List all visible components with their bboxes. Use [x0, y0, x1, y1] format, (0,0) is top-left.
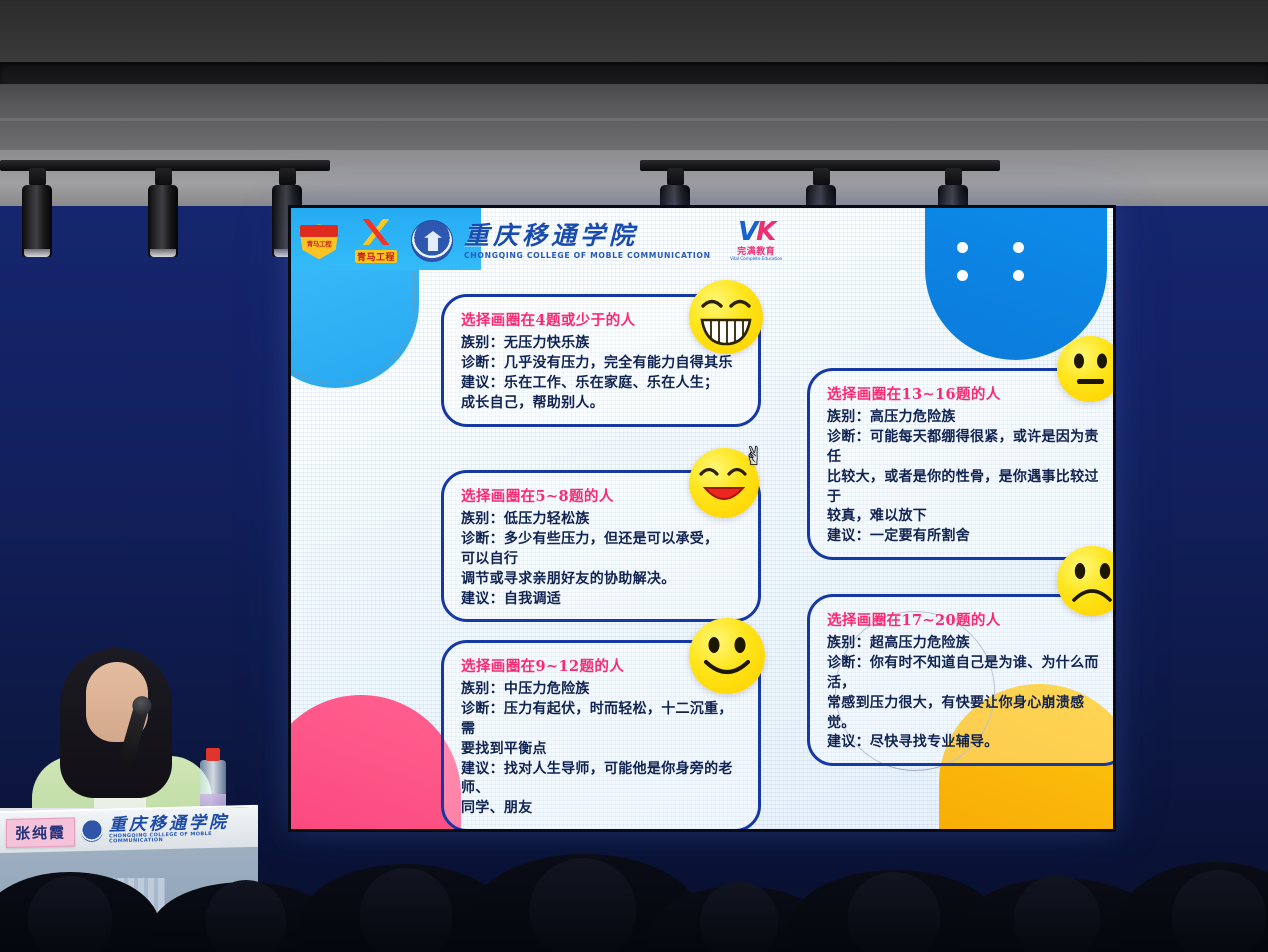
slide-cards: 选择画圈在4题或少于的人 族别：无压力快乐族 诊断：几乎没有压力，完全有能力自得…	[291, 208, 1113, 829]
national-emblem-icon: 青马工程	[297, 221, 341, 261]
card-line: 要找到平衡点	[461, 740, 742, 760]
card-line: 建议：乐在工作、乐在家庭、乐在人生；	[461, 374, 742, 394]
smile-face-icon	[689, 618, 765, 694]
neutral-face-icon	[1057, 336, 1113, 402]
card-line: 建议：尽快寻找专业辅导。	[827, 733, 1110, 753]
card-line: 诊断：多少有些压力，但还是可以承受，	[461, 530, 742, 550]
card-line: 族别：高压力危险族	[827, 408, 1110, 428]
card-line: 诊断：压力有起伏，时而轻松，十二沉重，需	[461, 700, 742, 740]
card-line: 诊断：几乎没有压力，完全有能力自得其乐	[461, 354, 742, 374]
sad-face-icon	[1057, 546, 1113, 616]
wall-upper-band	[0, 150, 1268, 206]
wanman-education-logo: VK 完满教育 Vital Complete Education	[730, 220, 782, 263]
card-line: 族别：超高压力危险族	[827, 634, 1110, 654]
card-line: 较真，难以放下	[827, 507, 1110, 527]
emblem-label: 青马工程	[297, 238, 341, 248]
school-wordmark: 重庆移通学院 CHONGQING COLLEGE OF MOBLE COMMUN…	[464, 223, 721, 260]
card-line: 比较大，或者是你的性骨，是你遇事比较过于	[827, 468, 1110, 508]
school-name-cn: 重庆移通学院	[464, 223, 721, 248]
card-line: 调节或寻求亲朋好友的协助解决。	[461, 570, 742, 590]
lecture-hall-scene: 青马工程 青马工程 重庆移通学院 CHONGQING COLLEGE OF MO…	[0, 0, 1268, 952]
college-seal-icon	[411, 220, 453, 262]
vk-monogram-icon: VK	[730, 220, 782, 245]
card-line: 诊断：你有时不知道自己是为谁、为什么而活，	[827, 654, 1110, 694]
ceiling-slot	[0, 62, 1268, 84]
card-line: 诊断：可能每天都绷得很紧，或许是因为责任	[827, 428, 1110, 468]
audience-silhouettes	[0, 792, 1268, 952]
grin-face-icon	[689, 280, 763, 354]
qingma-mark-icon	[359, 219, 393, 245]
wanman-label-cn: 完满教育	[730, 244, 782, 257]
card-line: 成长自己，帮助别人。	[461, 394, 742, 414]
qingma-project-logo: 青马工程	[350, 219, 402, 264]
school-name-en: CHONGQING COLLEGE OF MOBLE COMMUNICATION	[464, 251, 711, 260]
ceiling-seam	[0, 118, 1268, 121]
qingma-label: 青马工程	[355, 250, 397, 263]
result-card-17-to-20: 选择画圈在17~20题的人 族别：超高压力危险族 诊断：你有时不知道自己是为谁、…	[807, 594, 1113, 766]
projection-screen: 青马工程 青马工程 重庆移通学院 CHONGQING COLLEGE OF MO…	[291, 208, 1113, 829]
wanman-label-en: Vital Complete Education	[730, 257, 782, 262]
card-line: 可以自行	[461, 550, 742, 570]
card-line: 建议：一定要有所割舍	[827, 527, 1110, 547]
ceiling	[0, 0, 1268, 150]
card-line: 常感到压力很大，有快要让你身心崩溃感觉。	[827, 694, 1110, 734]
peace-hand-icon: ✌	[743, 444, 765, 470]
projection-screen-frame: 青马工程 青马工程 重庆移通学院 CHONGQING COLLEGE OF MO…	[288, 205, 1116, 832]
card-line: 建议：自我调适	[461, 590, 742, 610]
